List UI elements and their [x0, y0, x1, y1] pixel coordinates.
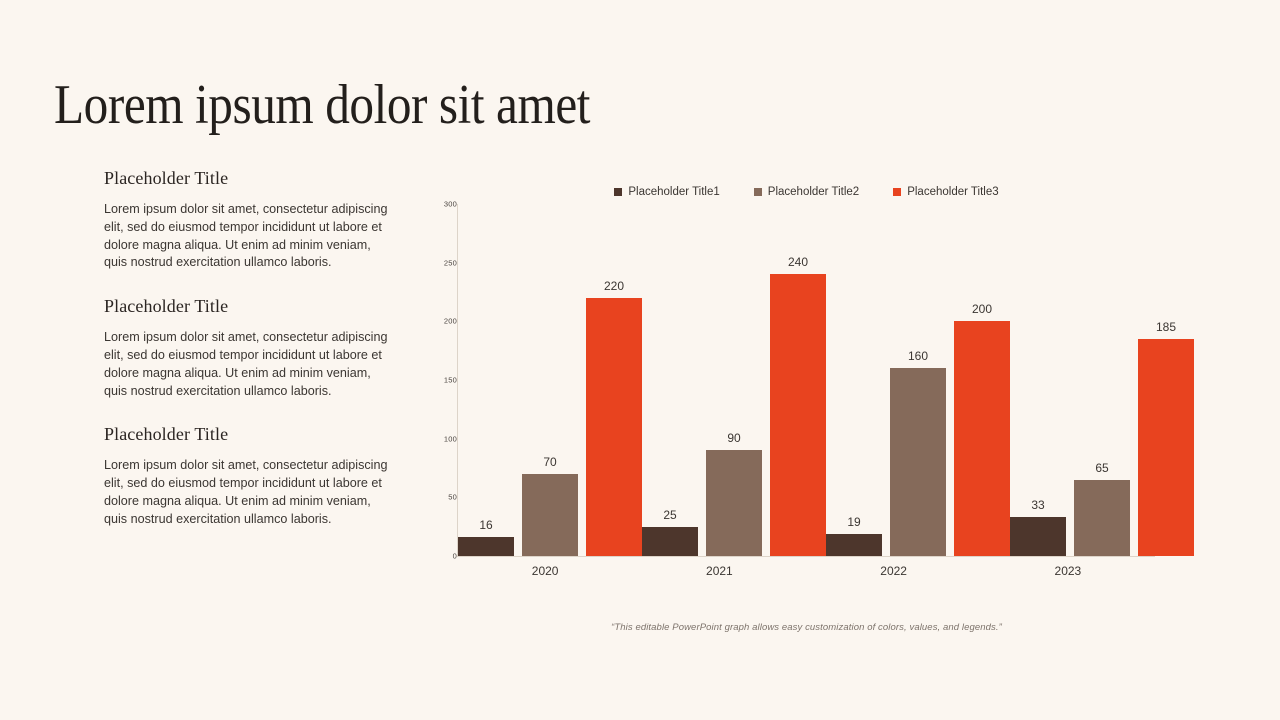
bar-value-label: 19 [847, 515, 860, 529]
bar[interactable]: 65 [1074, 480, 1130, 556]
y-axis-tick: 200 [425, 317, 457, 326]
block-title: Placeholder Title [104, 166, 394, 190]
legend-swatch-icon [754, 188, 762, 196]
x-axis-label: 2020 [458, 564, 632, 578]
y-axis-tick: 50 [425, 493, 457, 502]
bar[interactable]: 90 [706, 450, 762, 556]
block-body: Lorem ipsum dolor sit amet, consectetur … [104, 201, 394, 272]
bar-value-label: 25 [663, 508, 676, 522]
bar-value-label: 200 [972, 302, 992, 316]
block-body: Lorem ipsum dolor sit amet, consectetur … [104, 457, 394, 528]
bar-group: 19160200 [826, 204, 1010, 556]
chart-caption: “This editable PowerPoint graph allows e… [458, 622, 1155, 633]
bar[interactable]: 70 [522, 474, 578, 556]
legend-swatch-icon [614, 188, 622, 196]
bar-value-label: 90 [727, 431, 740, 445]
page-title: Lorem ipsum dolor sit amet [54, 72, 590, 138]
bar[interactable]: 16 [458, 537, 514, 556]
bar-value-label: 160 [908, 349, 928, 363]
bar-group: 3365185 [1010, 204, 1194, 556]
bar-value-label: 185 [1156, 320, 1176, 334]
bar[interactable]: 19 [826, 534, 882, 556]
bar-value-label: 33 [1031, 498, 1044, 512]
legend-label: Placeholder Title2 [768, 186, 859, 198]
bar[interactable]: 185 [1138, 339, 1194, 556]
legend-label: Placeholder Title1 [628, 186, 719, 198]
bars-region: 16702202590240191602003365185 [458, 204, 1155, 556]
legend-swatch-icon [893, 188, 901, 196]
bar[interactable]: 200 [954, 321, 1010, 556]
x-axis-label: 2023 [981, 564, 1155, 578]
bar[interactable]: 160 [890, 368, 946, 556]
x-axis-line [457, 556, 1155, 557]
y-axis: 050100150200250300 [425, 204, 457, 556]
chart-legend: Placeholder Title1Placeholder Title2Plac… [425, 182, 1170, 202]
bar[interactable]: 33 [1010, 517, 1066, 556]
slide-canvas: { "slide": { "title": "Lorem ipsum dolor… [0, 0, 1280, 720]
y-axis-tick: 100 [425, 434, 457, 443]
legend-item[interactable]: Placeholder Title3 [893, 186, 998, 198]
plot-area: 050100150200250300 167022025902401916020… [425, 204, 1170, 582]
legend-item[interactable]: Placeholder Title2 [754, 186, 859, 198]
text-block: Placeholder Title Lorem ipsum dolor sit … [104, 166, 394, 272]
bar[interactable]: 25 [642, 527, 698, 556]
bar-value-label: 220 [604, 279, 624, 293]
y-axis-tick: 300 [425, 200, 457, 209]
x-axis-label: 2021 [632, 564, 806, 578]
bar[interactable]: 220 [586, 298, 642, 556]
bar[interactable]: 240 [770, 274, 826, 556]
block-title: Placeholder Title [104, 294, 394, 318]
text-block: Placeholder Title Lorem ipsum dolor sit … [104, 422, 394, 528]
y-axis-tick: 250 [425, 258, 457, 267]
y-axis-tick: 0 [425, 552, 457, 561]
bar-group: 1670220 [458, 204, 642, 556]
text-block: Placeholder Title Lorem ipsum dolor sit … [104, 294, 394, 400]
left-text-column: Placeholder Title Lorem ipsum dolor sit … [104, 166, 394, 529]
legend-label: Placeholder Title3 [907, 186, 998, 198]
legend-item[interactable]: Placeholder Title1 [614, 186, 719, 198]
block-title: Placeholder Title [104, 422, 394, 446]
bar-value-label: 240 [788, 255, 808, 269]
x-axis-label: 2022 [807, 564, 981, 578]
x-axis-labels: 2020202120222023 [458, 564, 1155, 578]
bar-value-label: 65 [1095, 461, 1108, 475]
bar-chart: Placeholder Title1Placeholder Title2Plac… [425, 182, 1170, 632]
y-axis-tick: 150 [425, 376, 457, 385]
bar-group: 2590240 [642, 204, 826, 556]
bar-value-label: 70 [543, 455, 556, 469]
bar-value-label: 16 [479, 518, 492, 532]
block-body: Lorem ipsum dolor sit amet, consectetur … [104, 329, 394, 400]
